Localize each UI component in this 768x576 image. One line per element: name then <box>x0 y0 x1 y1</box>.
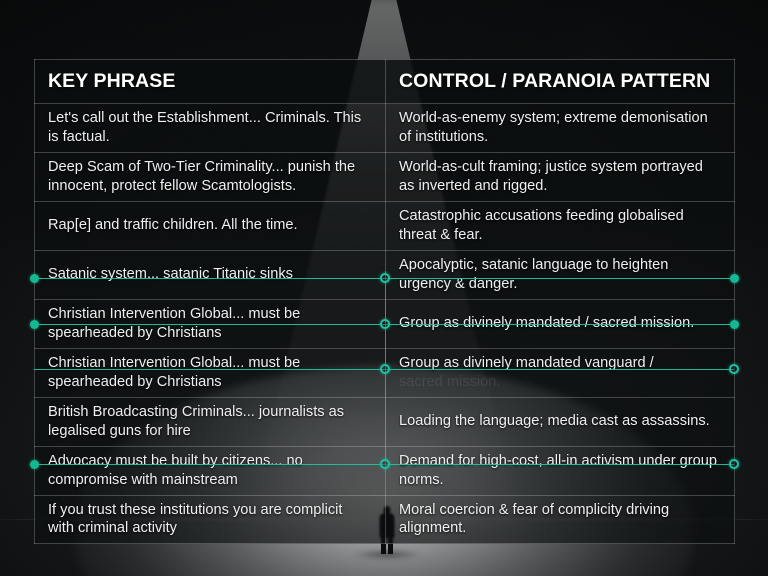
cell-pattern: Moral coercion & fear of complicity driv… <box>386 495 735 544</box>
table-header-row: KEY PHRASE CONTROL / PARANOIA PATTERN <box>35 60 735 104</box>
cell-pattern: Group as divinely mandated / sacred miss… <box>386 299 735 348</box>
cell-pattern: World-as-enemy system; extreme demonisat… <box>386 104 735 153</box>
comparison-table-wrapper: KEY PHRASE CONTROL / PARANOIA PATTERN Le… <box>34 59 734 512</box>
table-row[interactable]: British Broadcasting Criminals... journa… <box>35 397 735 446</box>
table-row[interactable]: Let's call out the Establishment... Crim… <box>35 104 735 153</box>
cell-key-phrase: Rap[e] and traffic children. All the tim… <box>35 201 386 250</box>
table-row[interactable]: Deep Scam of Two-Tier Criminality... pun… <box>35 152 735 201</box>
cell-key-phrase: Let's call out the Establishment... Crim… <box>35 104 386 153</box>
cell-pattern: Apocalyptic, satanic language to heighte… <box>386 250 735 299</box>
table-row-selected[interactable]: Christian Intervention Global... must be… <box>35 299 735 348</box>
cell-pattern: World-as-cult framing; justice system po… <box>386 152 735 201</box>
slide-canvas: KEY PHRASE CONTROL / PARANOIA PATTERN Le… <box>0 0 768 576</box>
table-row[interactable]: If you trust these institutions you are … <box>35 495 735 544</box>
table-row-selected[interactable]: Christian Intervention Global... must be… <box>35 348 735 397</box>
cell-key-phrase: Christian Intervention Global... must be… <box>35 348 386 397</box>
cell-key-phrase: British Broadcasting Criminals... journa… <box>35 397 386 446</box>
cell-pattern-text: Group as divinely mandated vanguard / <box>399 355 654 371</box>
table-body: Let's call out the Establishment... Crim… <box>35 104 735 544</box>
cell-pattern: Group as divinely mandated vanguard / sa… <box>386 348 735 397</box>
column-header-control-paranoia-pattern: CONTROL / PARANOIA PATTERN <box>386 60 735 104</box>
cell-key-phrase: Deep Scam of Two-Tier Criminality... pun… <box>35 152 386 201</box>
column-header-key-phrase: KEY PHRASE <box>35 60 386 104</box>
cell-pattern: Catastrophic accusations feeding globali… <box>386 201 735 250</box>
cell-key-phrase: If you trust these institutions you are … <box>35 495 386 544</box>
cell-pattern-faint-text: sacred mission. <box>399 373 721 392</box>
cell-pattern: Demand for high-cost, all-in activism un… <box>386 446 735 495</box>
cell-pattern: Loading the language; media cast as assa… <box>386 397 735 446</box>
table-header: KEY PHRASE CONTROL / PARANOIA PATTERN <box>35 60 735 104</box>
table-row[interactable]: Advocacy must be built by citizens... no… <box>35 446 735 495</box>
table-row[interactable]: Satanic system... satanic Titanic sinks … <box>35 250 735 299</box>
cell-key-phrase: Satanic system... satanic Titanic sinks <box>35 250 386 299</box>
table-row[interactable]: Rap[e] and traffic children. All the tim… <box>35 201 735 250</box>
comparison-table: KEY PHRASE CONTROL / PARANOIA PATTERN Le… <box>34 59 735 544</box>
cell-key-phrase: Advocacy must be built by citizens... no… <box>35 446 386 495</box>
cell-key-phrase: Christian Intervention Global... must be… <box>35 299 386 348</box>
